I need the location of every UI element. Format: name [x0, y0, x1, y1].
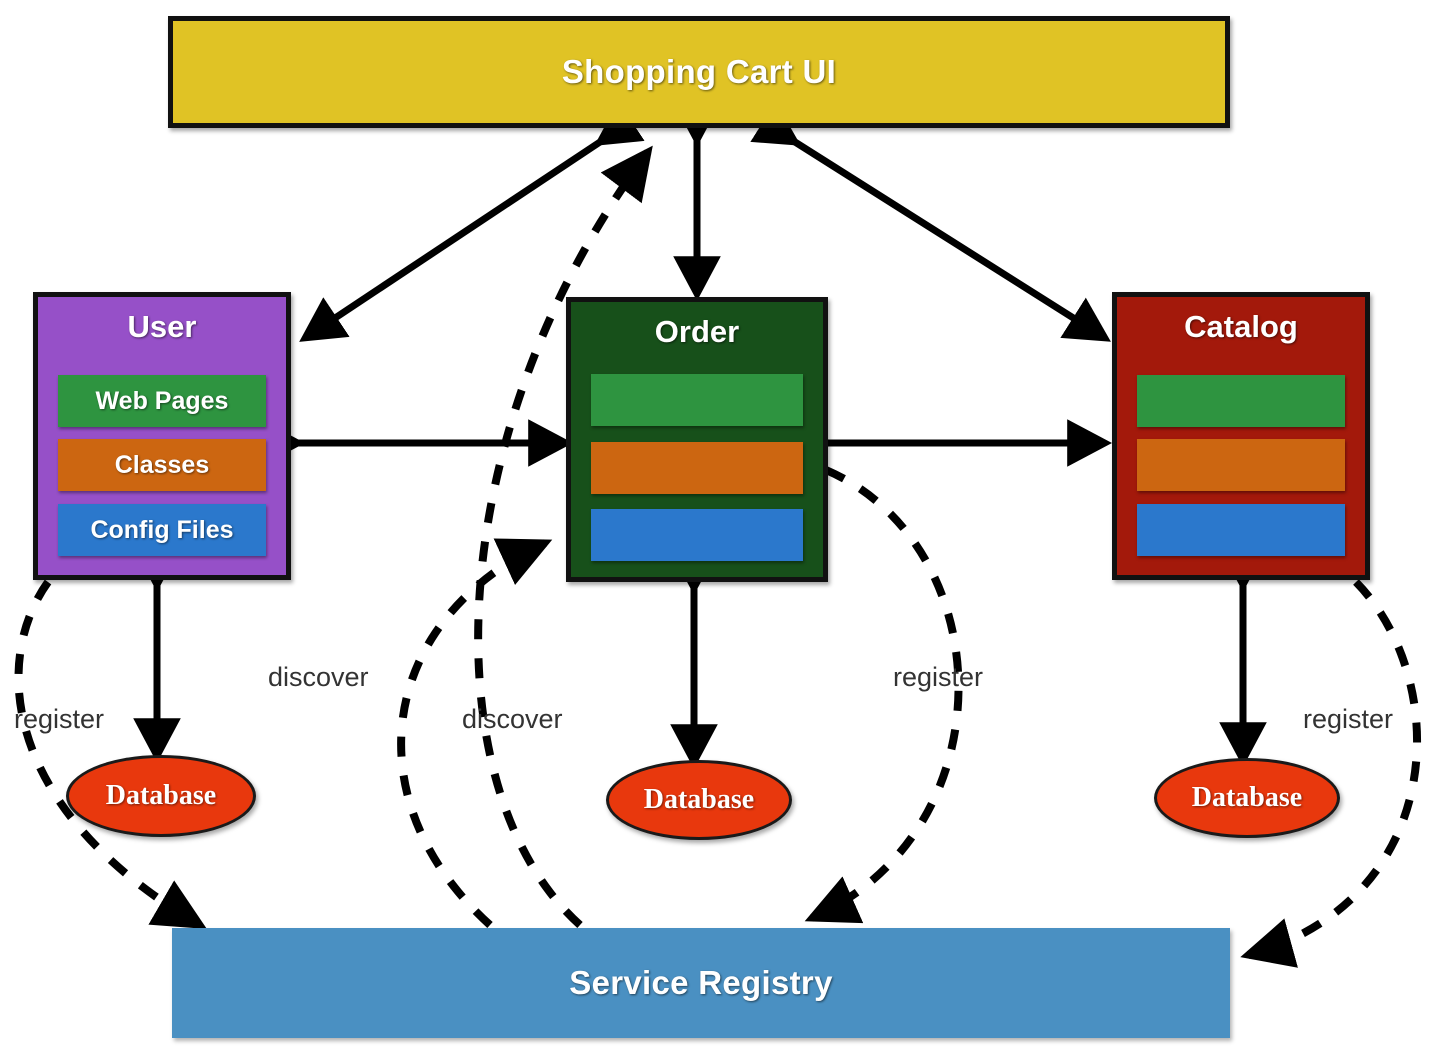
service-registry-label: Service Registry: [569, 964, 832, 1002]
service-layer-label: Web Pages: [96, 387, 229, 416]
service-layer-label: Classes: [115, 451, 210, 480]
edge-order-register: [812, 470, 959, 918]
edge-label-register-user: register: [14, 704, 104, 735]
service-layer-order-web[interactable]: [591, 374, 803, 426]
database-label: Database: [1192, 782, 1302, 814]
shopping-cart-ui-banner[interactable]: Shopping Cart UI: [168, 16, 1230, 128]
database-label: Database: [644, 784, 754, 816]
edge-user-register: [19, 582, 200, 925]
edge-label-register-order: register: [893, 662, 983, 693]
service-layer-order-config[interactable]: [591, 509, 803, 561]
service-layer-label: Config Files: [90, 516, 233, 545]
service-box-order[interactable]: Order: [566, 297, 828, 582]
service-box-catalog[interactable]: Catalog: [1112, 292, 1370, 580]
edge-ui-catalog: [795, 142, 1105, 338]
service-title-catalog: Catalog: [1117, 309, 1365, 345]
service-layer-web-pages[interactable]: Web Pages: [58, 375, 266, 427]
edge-label-register-catalog: register: [1303, 704, 1393, 735]
service-layer-catalog-web[interactable]: [1137, 375, 1345, 427]
database-catalog[interactable]: Database: [1154, 758, 1340, 838]
service-layer-classes[interactable]: Classes: [58, 439, 266, 491]
service-title-order: Order: [571, 314, 823, 350]
edge-label-discover-ui: discover: [268, 662, 369, 693]
service-layer-config-files[interactable]: Config Files: [58, 504, 266, 556]
service-layer-catalog-config[interactable]: [1137, 504, 1345, 556]
service-layer-catalog-classes[interactable]: [1137, 439, 1345, 491]
database-label: Database: [106, 780, 216, 812]
database-order[interactable]: Database: [606, 760, 792, 840]
service-box-user[interactable]: User Web Pages Classes Config Files: [33, 292, 291, 580]
service-registry-banner[interactable]: Service Registry: [172, 928, 1230, 1038]
database-user[interactable]: Database: [66, 755, 256, 837]
edge-ui-user: [305, 142, 600, 338]
architecture-diagram: Shopping Cart UI User Web Pages Classes …: [0, 0, 1452, 1050]
edge-label-discover-order: discover: [462, 704, 563, 735]
shopping-cart-ui-label: Shopping Cart UI: [562, 53, 836, 91]
service-title-user: User: [38, 309, 286, 345]
service-layer-order-classes[interactable]: [591, 442, 803, 494]
